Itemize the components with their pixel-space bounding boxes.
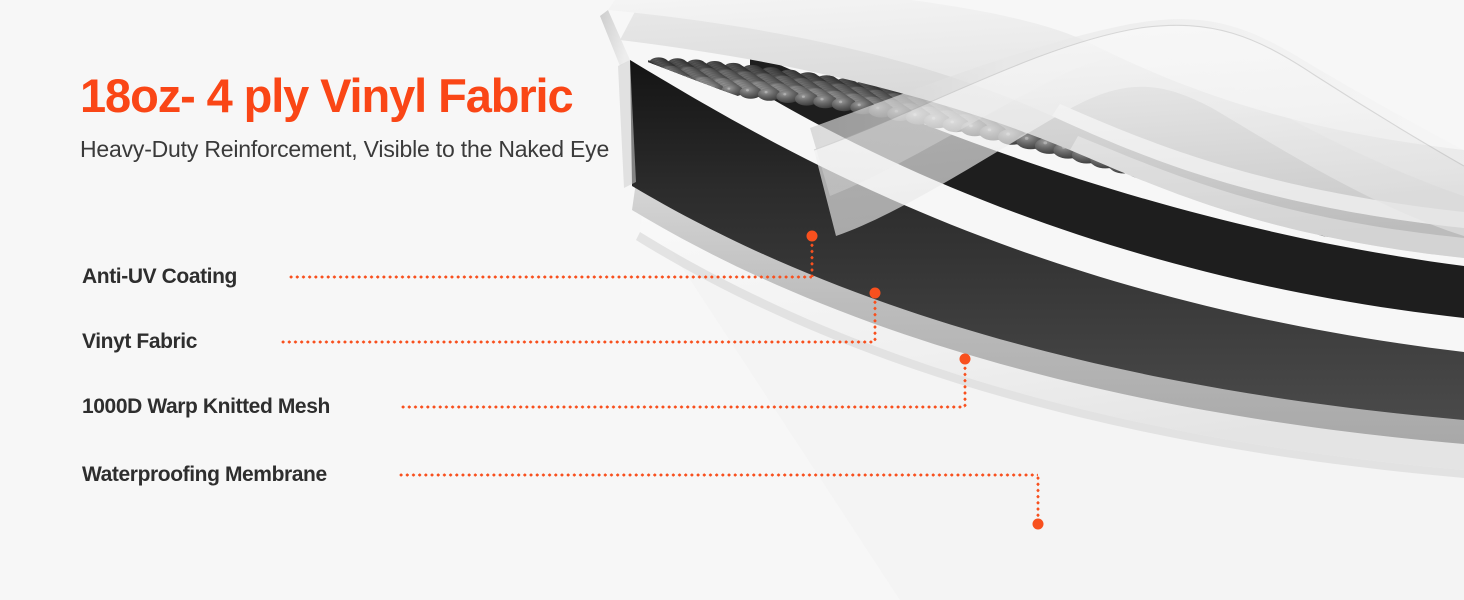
- callout-label-anti-uv-coating: Anti-UV Coating: [82, 265, 237, 289]
- callout-label-warp-knitted-mesh: 1000D Warp Knitted Mesh: [82, 395, 330, 419]
- leader-elbow-vinyt-fabric: [874, 293, 877, 342]
- callout-label-vinyt-fabric: Vinyt Fabric: [82, 330, 197, 354]
- leader-elbow-waterproofing-membrane: [1037, 475, 1040, 524]
- callout-label-waterproofing-membrane: Waterproofing Membrane: [82, 463, 327, 487]
- leader-dot-anti-uv-coating: [807, 231, 818, 242]
- leader-line-vinyt-fabric: [280, 341, 875, 344]
- infographic-canvas: 18oz- 4 ply Vinyl Fabric Heavy-Duty Rein…: [0, 0, 1464, 600]
- leader-elbow-anti-uv-coating: [811, 236, 814, 277]
- leader-elbow-warp-knitted-mesh: [964, 359, 967, 407]
- page-title: 18oz- 4 ply Vinyl Fabric: [80, 72, 573, 119]
- leader-line-warp-knitted-mesh: [400, 406, 965, 409]
- leader-dot-warp-knitted-mesh: [960, 354, 971, 365]
- product-illustration: [600, 0, 1464, 600]
- leader-dot-waterproofing-membrane: [1033, 519, 1044, 530]
- leader-dot-vinyt-fabric: [870, 288, 881, 299]
- leader-line-anti-uv-coating: [288, 276, 812, 279]
- leader-line-waterproofing-membrane: [398, 474, 1038, 477]
- page-subtitle: Heavy-Duty Reinforcement, Visible to the…: [80, 136, 609, 164]
